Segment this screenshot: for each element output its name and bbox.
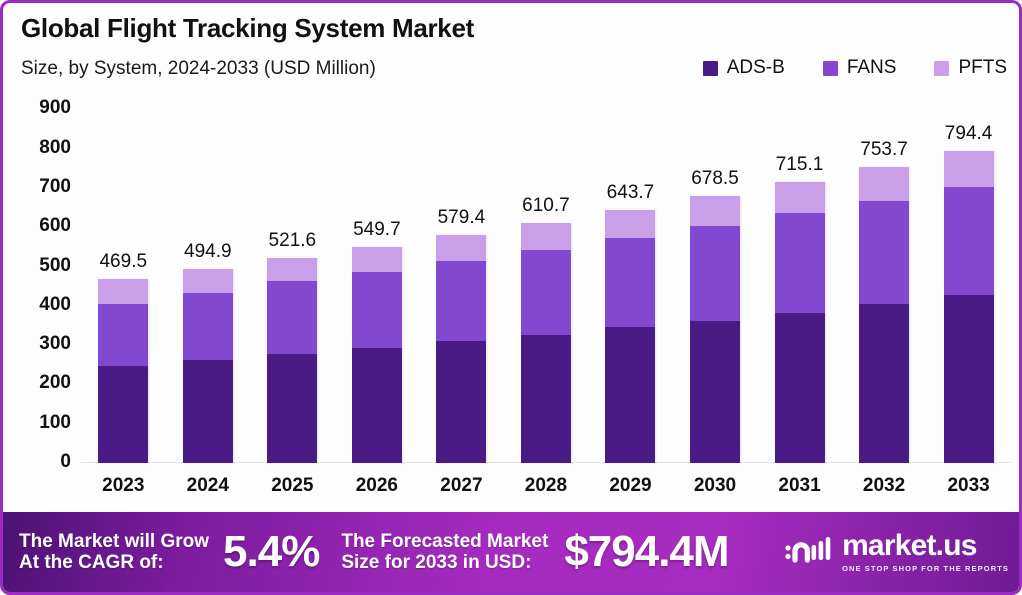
bar-stack[interactable] (267, 258, 317, 463)
bar-value-label: 494.9 (184, 241, 232, 263)
x-axis-tick-2023: 2023 (81, 475, 165, 497)
bar-segment-pfts[interactable] (436, 235, 486, 261)
bar-stack[interactable] (775, 182, 825, 463)
x-axis-tick-2029: 2029 (588, 475, 672, 497)
y-axis-tick: 700 (39, 176, 71, 198)
bar-group-2026[interactable]: 549.7 (335, 95, 419, 463)
summary-footer: The Market will Grow At the CAGR of: 5.4… (3, 512, 1022, 592)
brand-tagline: ONE STOP SHOP FOR THE REPORTS (842, 564, 1009, 573)
bar-segment-fans[interactable] (436, 261, 486, 340)
bar-segment-ads-b[interactable] (859, 304, 909, 463)
x-axis-tick-2033: 2033 (927, 475, 1011, 497)
bar-segment-ads-b[interactable] (183, 360, 233, 463)
chart-plot-area: 9008007006005004003002001000 469.5494.95… (3, 95, 1022, 513)
bar-segment-fans[interactable] (352, 272, 402, 348)
y-axis-tick: 200 (39, 372, 71, 394)
bar-stack[interactable] (352, 247, 402, 463)
bar-segment-fans[interactable] (944, 187, 994, 295)
brand-text: market.us ONE STOP SHOP FOR THE REPORTS (842, 531, 1009, 573)
bar-segment-ads-b[interactable] (521, 335, 571, 463)
x-axis-tick-2025: 2025 (250, 475, 334, 497)
bar-segment-ads-b[interactable] (436, 341, 486, 463)
bar-value-label: 753.7 (860, 139, 908, 161)
x-axis-tick-2024: 2024 (166, 475, 250, 497)
y-axis-tick: 0 (60, 451, 71, 473)
bar-segment-ads-b[interactable] (98, 366, 148, 463)
bar-stack[interactable] (183, 269, 233, 463)
y-axis: 9008007006005004003002001000 (3, 95, 81, 513)
bar-value-label: 469.5 (99, 251, 147, 273)
cagr-label-line1: The Market will Grow (19, 531, 209, 552)
y-axis-tick: 400 (39, 294, 71, 316)
bar-value-label: 794.4 (945, 123, 993, 145)
bar-group-2033[interactable]: 794.4 (927, 95, 1011, 463)
legend-swatch-icon (934, 61, 949, 76)
bar-value-label: 579.4 (438, 207, 486, 229)
bar-group-2028[interactable]: 610.7 (504, 95, 588, 463)
bar-stack[interactable] (605, 210, 655, 463)
page-title: Global Flight Tracking System Market (21, 13, 474, 44)
bar-series-container: 469.5494.9521.6549.7579.4610.7643.7678.5… (81, 95, 1011, 463)
bar-segment-fans[interactable] (775, 213, 825, 312)
x-axis-tick-2030: 2030 (673, 475, 757, 497)
legend-label: ADS-B (727, 57, 785, 79)
bar-segment-pfts[interactable] (944, 151, 994, 187)
bar-segment-ads-b[interactable] (690, 321, 740, 463)
cagr-label-line2: At the CAGR of: (19, 552, 164, 573)
bar-stack[interactable] (944, 151, 994, 463)
bar-segment-ads-b[interactable] (775, 313, 825, 463)
bar-segment-pfts[interactable] (690, 196, 740, 226)
market-infographic: Global Flight Tracking System Market Siz… (0, 0, 1022, 595)
x-axis-tick-2026: 2026 (335, 475, 419, 497)
legend-swatch-icon (703, 61, 718, 76)
bar-segment-ads-b[interactable] (605, 327, 655, 463)
bar-value-label: 715.1 (776, 154, 824, 176)
bar-segment-ads-b[interactable] (267, 354, 317, 463)
bar-segment-pfts[interactable] (352, 247, 402, 272)
chart-subtitle: Size, by System, 2024-2033 (USD Million) (21, 58, 376, 80)
bar-value-label: 643.7 (607, 182, 655, 204)
bar-group-2024[interactable]: 494.9 (166, 95, 250, 463)
bar-segment-pfts[interactable] (605, 210, 655, 238)
bar-group-2032[interactable]: 753.7 (842, 95, 926, 463)
bar-group-2025[interactable]: 521.6 (250, 95, 334, 463)
bar-group-2030[interactable]: 678.5 (673, 95, 757, 463)
bar-group-2027[interactable]: 579.4 (419, 95, 503, 463)
chart-header: Global Flight Tracking System Market Siz… (3, 3, 1022, 95)
cagr-value: 5.4% (223, 527, 319, 577)
legend-label: FANS (847, 57, 897, 79)
bar-segment-fans[interactable] (183, 293, 233, 360)
forecast-label-line2: Size for 2033 in USD: (341, 552, 531, 573)
y-axis-tick: 100 (39, 412, 71, 434)
x-axis-tick-2031: 2031 (758, 475, 842, 497)
bar-value-label: 521.6 (269, 230, 317, 252)
bar-segment-fans[interactable] (521, 250, 571, 335)
y-axis-tick: 800 (39, 137, 71, 159)
market-us-mark-icon (784, 534, 832, 571)
x-axis-tick-2028: 2028 (504, 475, 588, 497)
legend-swatch-icon (823, 61, 838, 76)
bar-segment-pfts[interactable] (267, 258, 317, 281)
bar-segment-fans[interactable] (690, 226, 740, 321)
x-axis-tick-2027: 2027 (419, 475, 503, 497)
bar-segment-fans[interactable] (859, 201, 909, 304)
bar-stack[interactable] (436, 235, 486, 463)
brand-name: market.us (842, 531, 977, 561)
bar-group-2023[interactable]: 469.5 (81, 95, 165, 463)
legend-item-fans[interactable]: FANS (823, 57, 897, 79)
forecast-label: The Forecasted Market Size for 2033 in U… (341, 531, 548, 574)
y-axis-tick: 600 (39, 215, 71, 237)
legend-item-ads-b[interactable]: ADS-B (703, 57, 785, 79)
chart-legend: ADS-BFANSPFTS (703, 57, 1007, 79)
bar-group-2031[interactable]: 715.1 (758, 95, 842, 463)
bar-segment-pfts[interactable] (521, 223, 571, 250)
y-axis-tick: 900 (39, 97, 71, 119)
bar-segment-pfts[interactable] (859, 167, 909, 201)
forecast-label-line1: The Forecasted Market (341, 531, 548, 552)
bar-segment-ads-b[interactable] (944, 295, 994, 463)
y-axis-tick: 500 (39, 255, 71, 277)
bar-stack[interactable] (98, 279, 148, 464)
x-axis: 2023202420252026202720282029203020312032… (81, 475, 1011, 513)
legend-item-pfts[interactable]: PFTS (934, 57, 1007, 79)
bar-segment-fans[interactable] (267, 281, 317, 354)
bar-group-2029[interactable]: 643.7 (588, 95, 672, 463)
bar-segment-ads-b[interactable] (352, 348, 402, 463)
y-axis-tick: 300 (39, 333, 71, 355)
brand-logo[interactable]: market.us ONE STOP SHOP FOR THE REPORTS (784, 531, 1009, 573)
bar-value-label: 610.7 (522, 195, 570, 217)
bar-stack[interactable] (859, 167, 909, 463)
bar-value-label: 549.7 (353, 219, 401, 241)
legend-label: PFTS (958, 57, 1007, 79)
bar-segment-fans[interactable] (605, 238, 655, 327)
bar-segment-pfts[interactable] (183, 269, 233, 294)
bar-segment-fans[interactable] (98, 304, 148, 366)
bar-value-label: 678.5 (691, 168, 739, 190)
x-axis-tick-2032: 2032 (842, 475, 926, 497)
bar-stack[interactable] (521, 223, 571, 463)
cagr-label: The Market will Grow At the CAGR of: (19, 531, 209, 574)
forecast-value: $794.4M (564, 527, 728, 577)
bar-stack[interactable] (690, 196, 740, 463)
bar-segment-pfts[interactable] (775, 182, 825, 213)
bar-segment-pfts[interactable] (98, 279, 148, 304)
